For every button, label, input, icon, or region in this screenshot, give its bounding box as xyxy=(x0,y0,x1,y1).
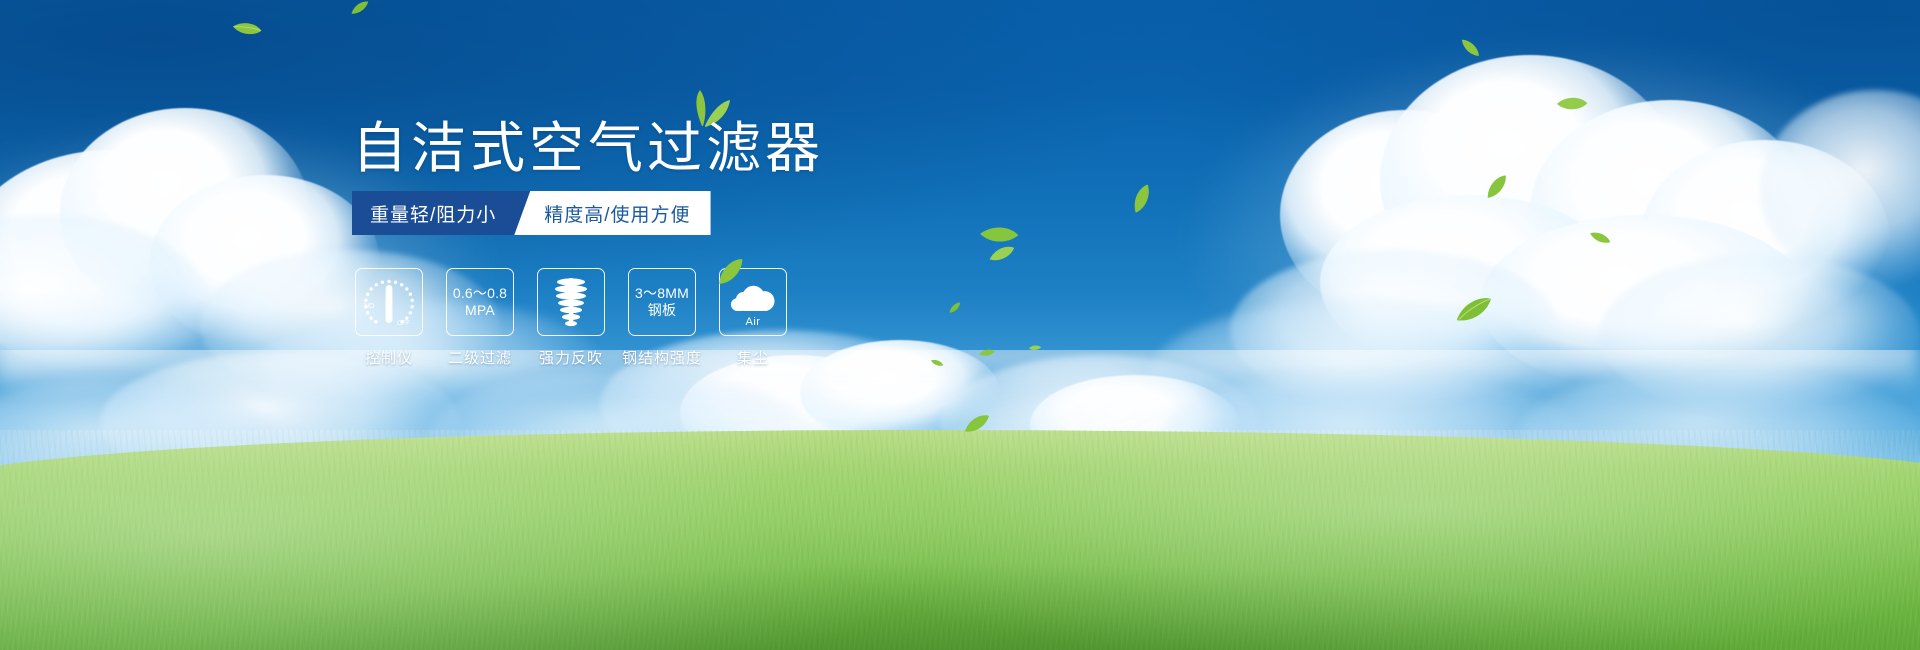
steel-plate-text-icon: 3～8MM 钢板 xyxy=(635,285,689,319)
steel-material: 钢板 xyxy=(635,302,689,319)
steel-thickness: 3～8MM xyxy=(635,285,689,302)
feature-list: NO OFF 控制仪 0.6～0.8 MPA 二级过滤 xyxy=(355,268,787,368)
control-dial-icon: NO OFF xyxy=(361,275,417,329)
air-cloud-icon xyxy=(725,277,781,317)
feature-icon-box: 3～8MM 钢板 xyxy=(628,268,696,336)
feature-label: 强力反吹 xyxy=(539,347,603,368)
feature-label: 控制仪 xyxy=(365,347,413,368)
banner-hero: 自洁式空气过滤器 重量轻/阻力小 精度高/使用方便 xyxy=(0,0,1920,650)
feature-icon-box: 0.6～0.8 MPA xyxy=(446,268,514,336)
feature-label: 钢结构强度 xyxy=(622,347,702,368)
feature-item-two-stage-filter[interactable]: 0.6～0.8 MPA 二级过滤 xyxy=(446,268,514,368)
svg-text:OFF: OFF xyxy=(397,320,410,327)
feature-item-dust-collection[interactable]: Air 集尘 xyxy=(719,268,787,368)
feature-item-strong-backflush[interactable]: 强力反吹 xyxy=(537,268,605,368)
air-caption: Air xyxy=(720,316,786,328)
feature-item-steel-strength[interactable]: 3～8MM 钢板 钢结构强度 xyxy=(628,268,696,368)
banner-content: 自洁式空气过滤器 重量轻/阻力小 精度高/使用方便 xyxy=(0,0,1920,650)
feature-label: 二级过滤 xyxy=(448,347,512,368)
svg-text:NO: NO xyxy=(364,303,375,310)
pressure-range: 0.6～0.8 xyxy=(453,285,507,302)
feature-icon-box xyxy=(537,268,605,336)
feature-item-control-instrument[interactable]: NO OFF 控制仪 xyxy=(355,268,423,368)
filter-element-icon xyxy=(547,276,595,328)
feature-icon-box: NO OFF xyxy=(355,268,423,336)
badge-high-precision[interactable]: 精度高/使用方便 xyxy=(514,191,710,235)
pressure-unit: MPA xyxy=(453,302,507,319)
badge-group: 重量轻/阻力小 精度高/使用方便 xyxy=(352,191,711,235)
badge-light-weight[interactable]: 重量轻/阻力小 xyxy=(352,191,530,235)
feature-label: 集尘 xyxy=(737,347,769,368)
feature-icon-box: Air xyxy=(719,268,787,336)
page-title: 自洁式空气过滤器 xyxy=(352,118,824,179)
pressure-text-icon: 0.6～0.8 MPA xyxy=(453,285,507,319)
